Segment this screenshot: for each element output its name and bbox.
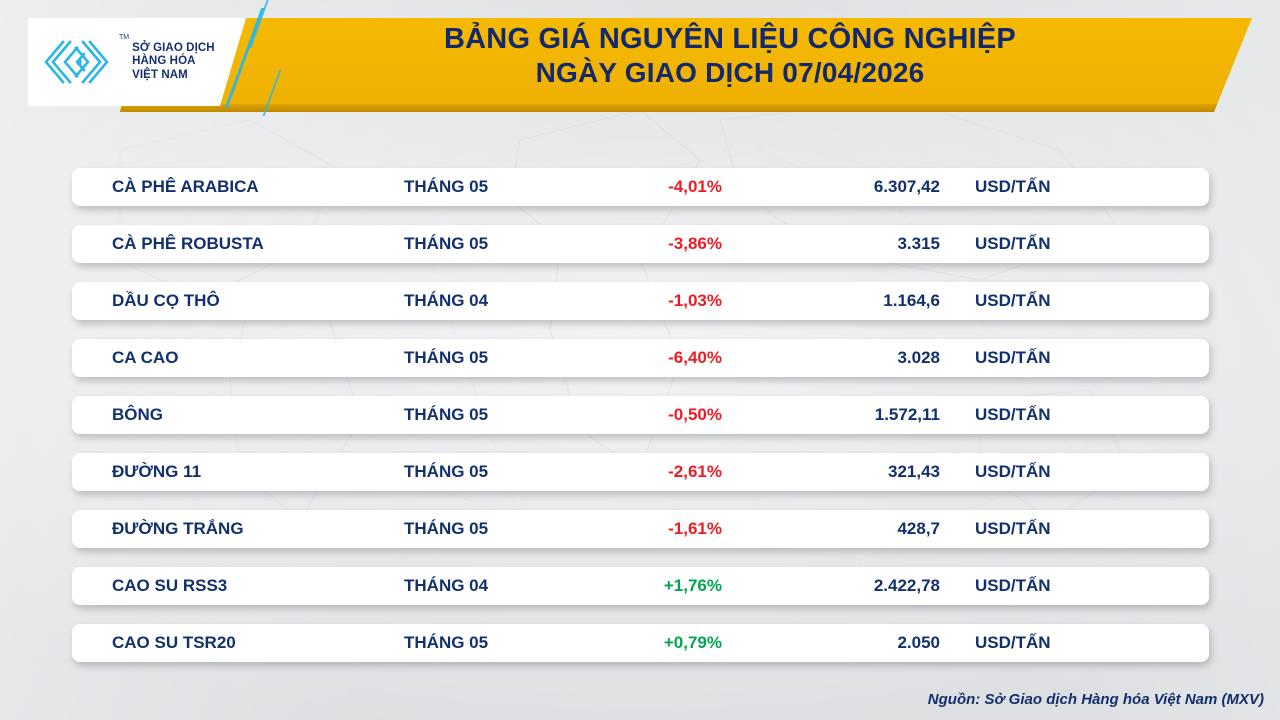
commodity-name: CÀ PHÊ ARABICA [112, 177, 259, 197]
table-row[interactable]: CÀ PHÊ ROBUSTATHÁNG 05-3,86%3.315USD/TẤN [72, 225, 1209, 263]
table-row[interactable]: DẦU CỌ THÔTHÁNG 04-1,03%1.164,6USD/TẤN [72, 282, 1209, 320]
table-row[interactable]: CA CAOTHÁNG 05-6,40%3.028USD/TẤN [72, 339, 1209, 377]
price-value: 1.572,11 [772, 405, 940, 425]
price-value: 1.164,6 [772, 291, 940, 311]
price-unit: USD/TẤN [975, 519, 1051, 539]
table-row[interactable]: CAO SU TSR20THÁNG 05+0,79%2.050USD/TẤN [72, 624, 1209, 662]
change-percent: -4,01% [602, 177, 722, 197]
logo-wordmark-line-1: SỞ GIAO DỊCH [132, 42, 215, 56]
price-value: 6.307,42 [772, 177, 940, 197]
table-row[interactable]: ĐƯỜNG 11THÁNG 05-2,61%321,43USD/TẤN [72, 453, 1209, 491]
price-value: 3.028 [772, 348, 940, 368]
change-percent: -1,03% [602, 291, 722, 311]
logo-wordmark-line-3: VIỆT NAM [132, 69, 215, 83]
page-title: BẢNG GIÁ NGUYÊN LIỆU CÔNG NGHIỆP NGÀY GI… [300, 22, 1160, 90]
contract-month: THÁNG 05 [404, 234, 488, 254]
price-value: 321,43 [772, 462, 940, 482]
commodity-name: CAO SU RSS3 [112, 576, 227, 596]
contract-month: THÁNG 04 [404, 291, 488, 311]
contract-month: THÁNG 05 [404, 348, 488, 368]
gold-banner-bottom-edge [120, 104, 1252, 112]
table-row[interactable]: BÔNGTHÁNG 05-0,50%1.572,11USD/TẤN [72, 396, 1209, 434]
contract-month: THÁNG 05 [404, 405, 488, 425]
commodity-name: CAO SU TSR20 [112, 633, 236, 653]
commodity-name: CA CAO [112, 348, 178, 368]
logo-card: TM SỞ GIAO DỊCH HÀNG HÓA VIỆT NAM [28, 18, 246, 106]
price-value: 428,7 [772, 519, 940, 539]
logo-wordmark: SỞ GIAO DỊCH HÀNG HÓA VIỆT NAM [132, 42, 215, 83]
trademark-symbol: TM [119, 34, 129, 41]
change-percent: -3,86% [602, 234, 722, 254]
change-percent: -0,50% [602, 405, 722, 425]
table-row[interactable]: CÀ PHÊ ARABICATHÁNG 05-4,01%6.307,42USD/… [72, 168, 1209, 206]
page-title-line-2: NGÀY GIAO DỊCH 07/04/2026 [300, 56, 1160, 90]
price-table: CÀ PHÊ ARABICATHÁNG 05-4,01%6.307,42USD/… [72, 168, 1209, 662]
commodity-name: CÀ PHÊ ROBUSTA [112, 234, 264, 254]
table-row[interactable]: CAO SU RSS3THÁNG 04+1,76%2.422,78USD/TẤN [72, 567, 1209, 605]
contract-month: THÁNG 05 [404, 462, 488, 482]
contract-month: THÁNG 05 [404, 177, 488, 197]
commodity-name: BÔNG [112, 405, 163, 425]
price-unit: USD/TẤN [975, 633, 1051, 653]
mxv-chevron-maze-logo-icon [42, 38, 118, 86]
price-unit: USD/TẤN [975, 291, 1051, 311]
price-value: 2.422,78 [772, 576, 940, 596]
commodity-name: ĐƯỜNG 11 [112, 462, 201, 482]
price-unit: USD/TẤN [975, 177, 1051, 197]
change-percent: -1,61% [602, 519, 722, 539]
logo-wordmark-line-2: HÀNG HÓA [132, 55, 215, 69]
contract-month: THÁNG 05 [404, 519, 488, 539]
price-unit: USD/TẤN [975, 405, 1051, 425]
price-unit: USD/TẤN [975, 234, 1051, 254]
change-percent: -2,61% [602, 462, 722, 482]
source-note: Nguồn: Sở Giao dịch Hàng hóa Việt Nam (M… [928, 691, 1264, 708]
commodity-name: ĐƯỜNG TRẮNG [112, 519, 244, 539]
price-unit: USD/TẤN [975, 462, 1051, 482]
change-percent: +1,76% [602, 576, 722, 596]
contract-month: THÁNG 05 [404, 633, 488, 653]
price-unit: USD/TẤN [975, 576, 1051, 596]
header-banner: BẢNG GIÁ NGUYÊN LIỆU CÔNG NGHIỆP NGÀY GI… [0, 0, 1280, 122]
price-unit: USD/TẤN [975, 348, 1051, 368]
change-percent: -6,40% [602, 348, 722, 368]
change-percent: +0,79% [602, 633, 722, 653]
table-row[interactable]: ĐƯỜNG TRẮNGTHÁNG 05-1,61%428,7USD/TẤN [72, 510, 1209, 548]
page-title-line-1: BẢNG GIÁ NGUYÊN LIỆU CÔNG NGHIỆP [300, 22, 1160, 56]
contract-month: THÁNG 04 [404, 576, 488, 596]
commodity-name: DẦU CỌ THÔ [112, 291, 220, 311]
price-value: 2.050 [772, 633, 940, 653]
price-value: 3.315 [772, 234, 940, 254]
